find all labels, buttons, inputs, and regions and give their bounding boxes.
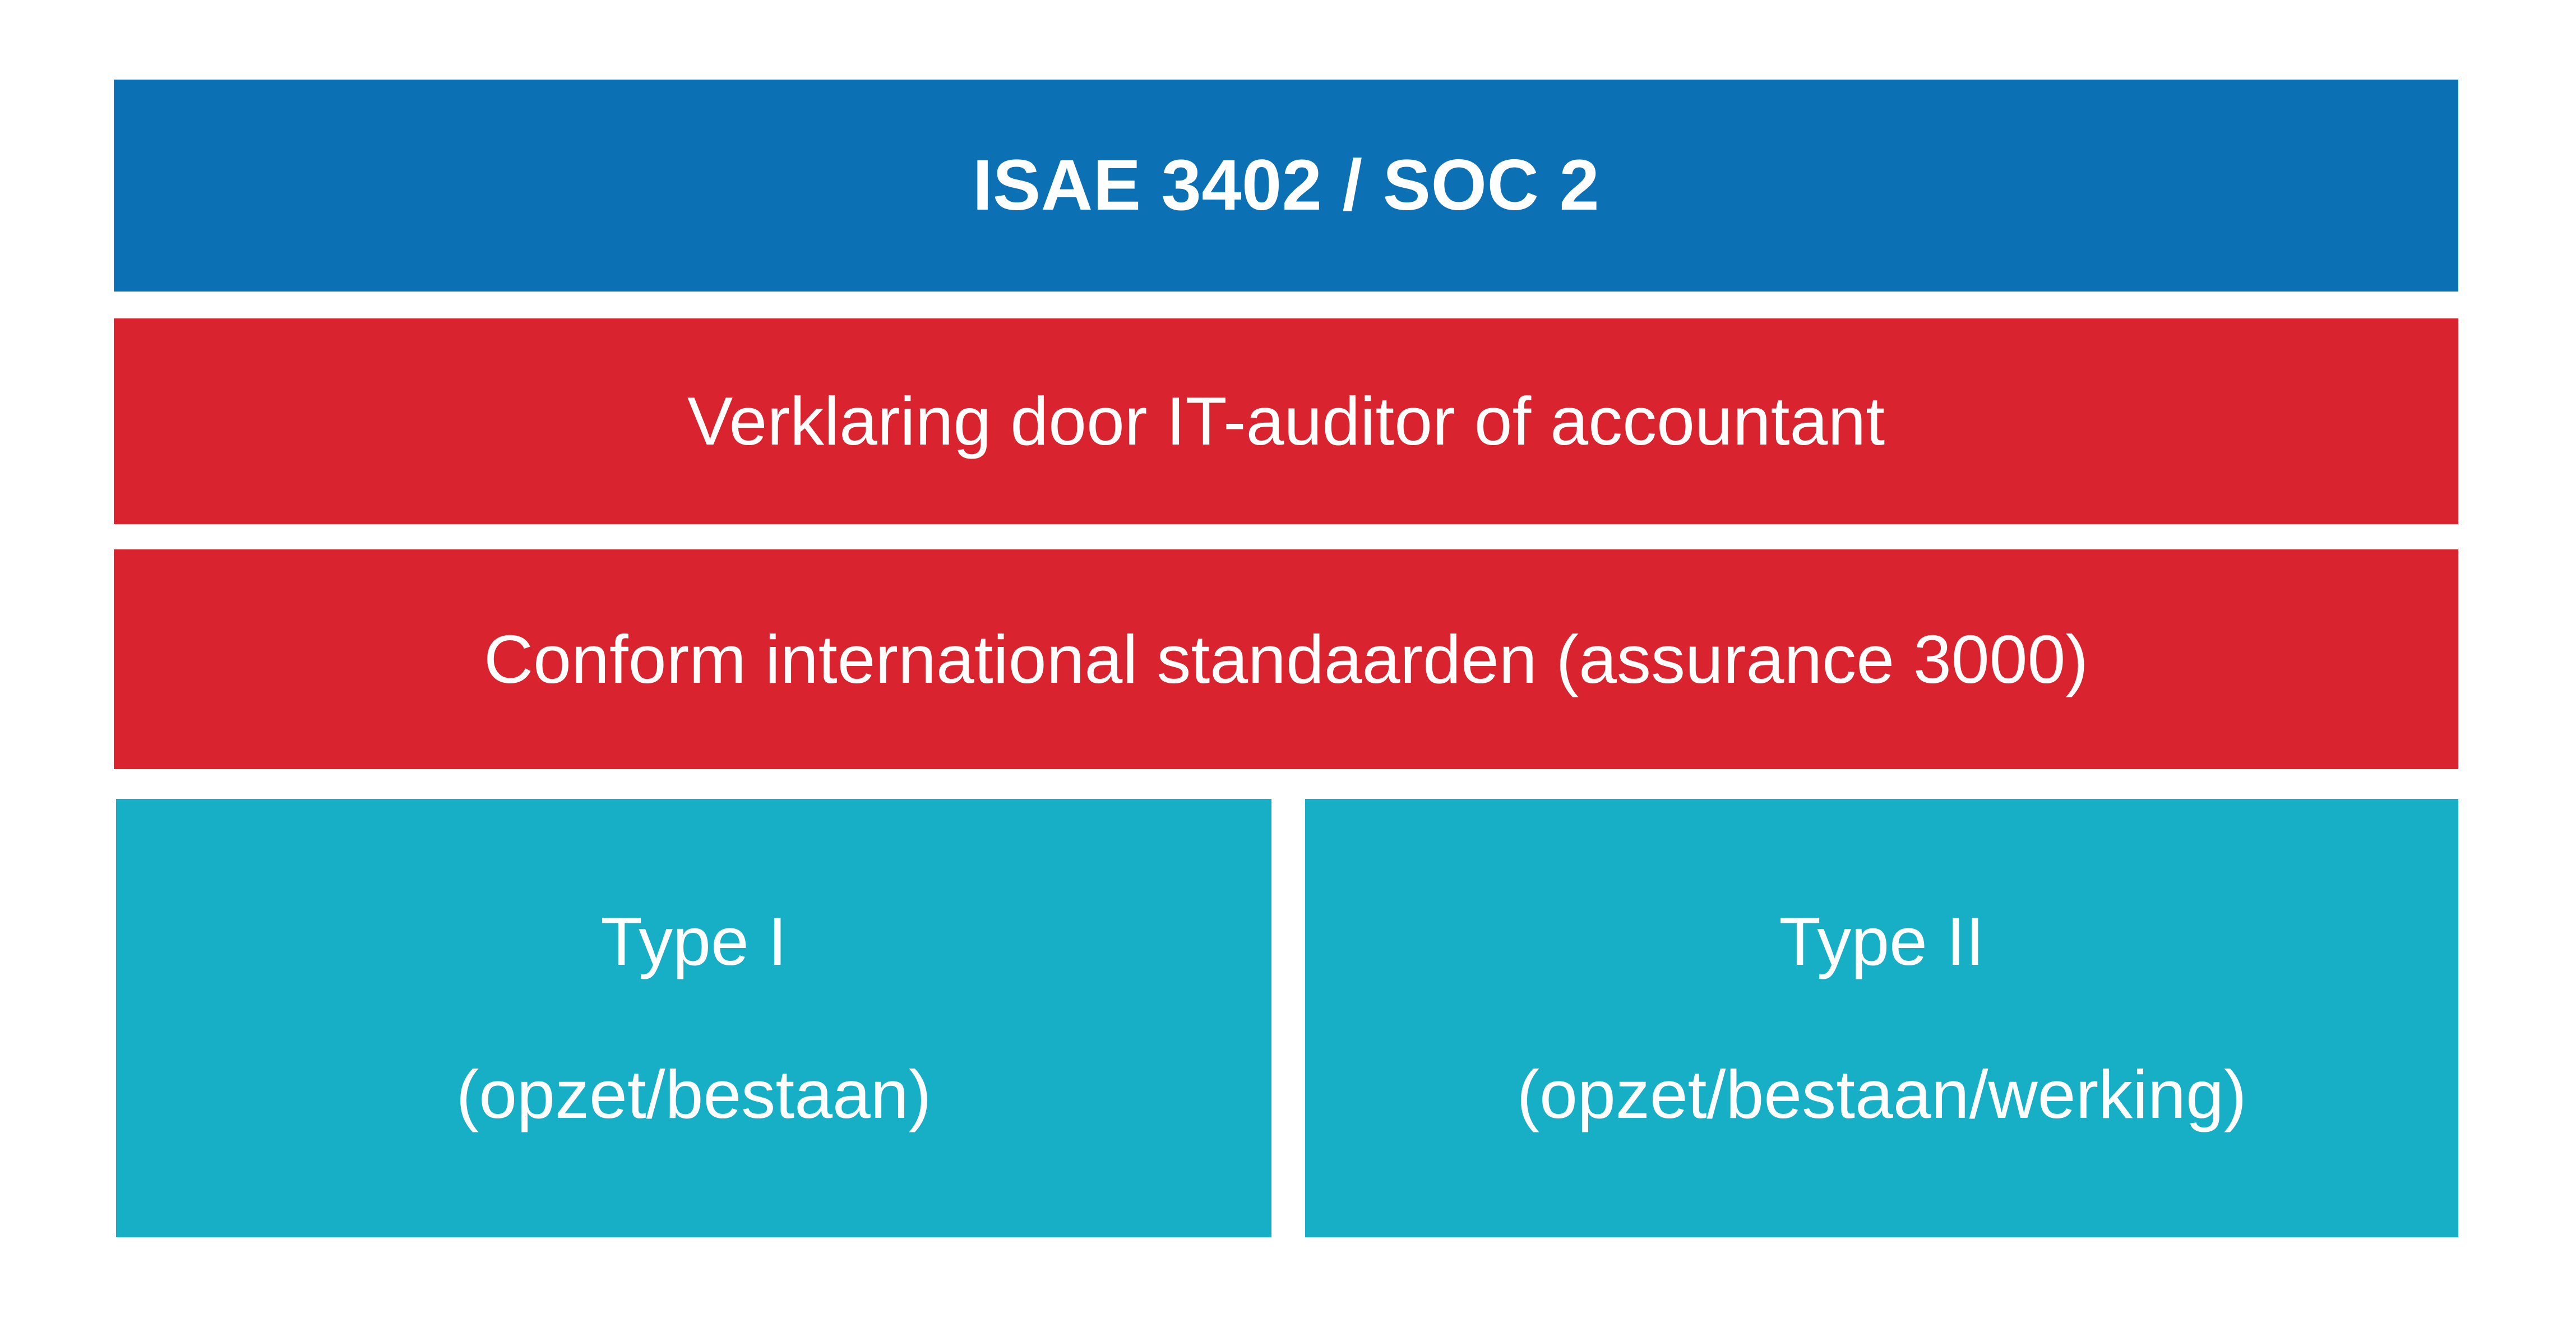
diagram-canvas: ISAE 3402 / SOC 2 Verklaring door IT-aud… xyxy=(0,0,2576,1318)
type-i-text-group: Type I (opzet/bestaan) xyxy=(456,826,932,1209)
statement-bar-international-standards: Conform international standaarden (assur… xyxy=(114,549,2458,769)
header-bar-isae-soc: ISAE 3402 / SOC 2 xyxy=(114,80,2458,292)
type-ii-title: Type II xyxy=(1516,903,2246,980)
type-box-type-ii: Type II (opzet/bestaan/werking) xyxy=(1305,799,2458,1237)
statement-label-1: Verklaring door IT-auditor of accountant xyxy=(687,383,1885,460)
type-ii-detail: (opzet/bestaan/werking) xyxy=(1516,1056,2246,1133)
statement-label-2: Conform international standaarden (assur… xyxy=(484,621,2088,698)
type-i-detail: (opzet/bestaan) xyxy=(456,1056,932,1133)
header-title: ISAE 3402 / SOC 2 xyxy=(973,145,1599,225)
type-i-title: Type I xyxy=(456,903,932,980)
statement-bar-auditor-declaration: Verklaring door IT-auditor of accountant xyxy=(114,318,2458,524)
type-box-type-i: Type I (opzet/bestaan) xyxy=(116,799,1271,1237)
type-ii-text-group: Type II (opzet/bestaan/werking) xyxy=(1516,826,2246,1209)
